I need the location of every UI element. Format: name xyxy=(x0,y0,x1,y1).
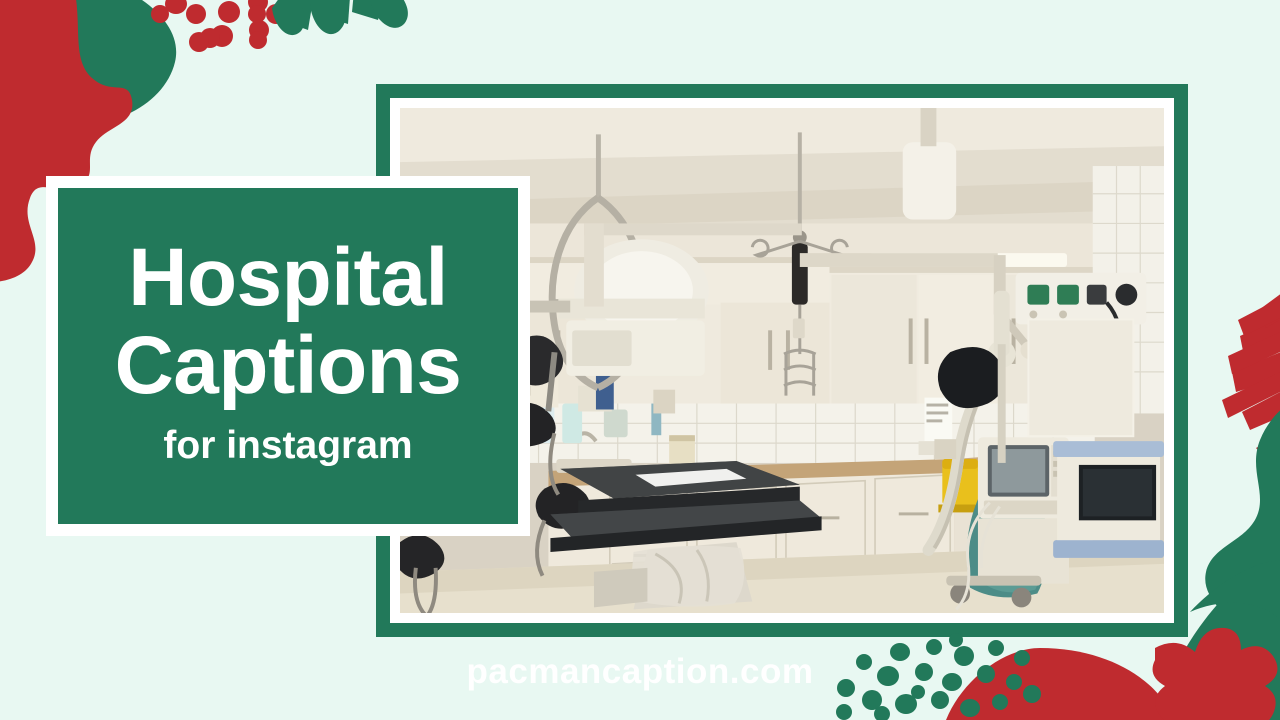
green-blob-top-left-icon xyxy=(0,0,176,123)
title-line-secondary: Captions xyxy=(115,324,462,408)
title-card-inner: Hospital Captions for instagram xyxy=(58,188,518,524)
title-card: Hospital Captions for instagram xyxy=(46,176,530,536)
title-subtitle: for instagram xyxy=(163,424,412,468)
red-fan-right-icon xyxy=(1232,268,1280,462)
website-footer: pacmancaption.com xyxy=(0,652,1280,692)
title-line-primary: Hospital xyxy=(128,236,447,320)
red-fan-right-front-icon xyxy=(1222,298,1280,418)
poster-canvas: Hospital Captions for instagram pacmanca… xyxy=(0,0,1280,720)
red-dots-top-left-icon xyxy=(151,0,286,52)
green-leaves-top-center-icon xyxy=(272,0,408,35)
